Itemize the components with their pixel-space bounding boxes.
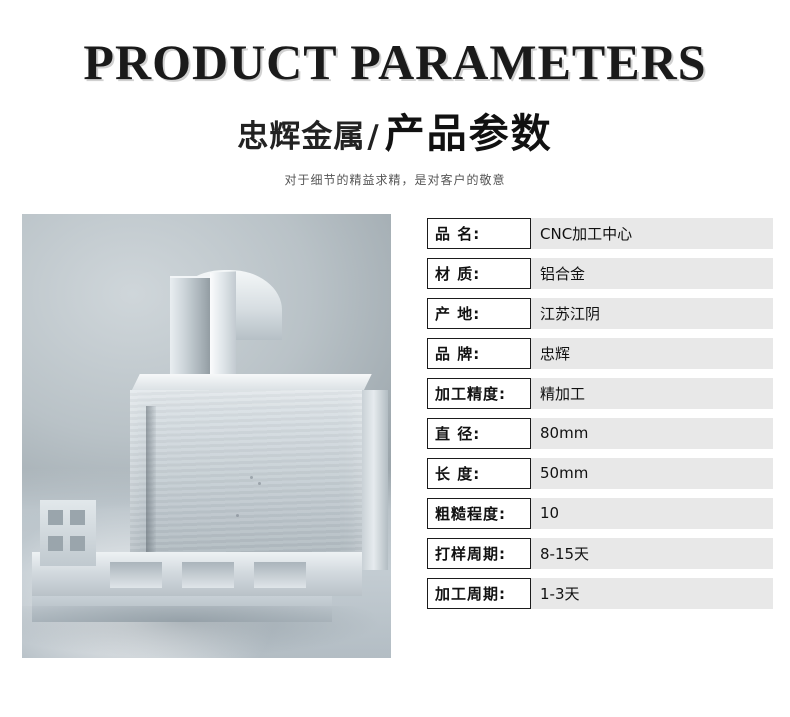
profile-slot-2 — [182, 562, 234, 588]
spec-label-text: 材 质: — [435, 263, 480, 284]
spec-value: 忠辉 — [531, 338, 773, 369]
subtitle-cn-row: 忠辉金属 / 产品参数 — [0, 101, 790, 159]
product-parameters-page: PRODUCT PARAMETERS 忠辉金属 / 产品参数 对于细节的精益求精… — [0, 0, 790, 717]
page-title-cn: 产品参数 — [385, 101, 553, 159]
spec-label: 长 度: — [427, 458, 531, 489]
title-separator: / — [365, 119, 380, 155]
product-photo — [22, 214, 391, 658]
spec-label: 直 径: — [427, 418, 531, 449]
spec-row: 产 地:江苏江阴 — [427, 298, 773, 329]
spec-row: 直 径:80mm — [427, 418, 773, 449]
spec-row: 打样周期:8-15天 — [427, 538, 773, 569]
spec-row: 加工周期:1-3天 — [427, 578, 773, 609]
page-subtitle: 对于细节的精益求精，是对客户的敬意 — [0, 171, 790, 188]
spec-label-text: 产 地: — [435, 303, 480, 324]
spec-label-text: 加工周期: — [435, 583, 506, 604]
spec-label-text: 直 径: — [435, 423, 480, 444]
profile-inner-gap — [146, 406, 156, 570]
brand-name-cn: 忠辉金属 — [237, 111, 365, 156]
spec-label: 品 名: — [427, 218, 531, 249]
specification-table: 品 名:CNC加工中心材 质:铝合金产 地:江苏江阴品 牌:忠辉加工精度:精加工… — [427, 218, 773, 618]
profile-slot-1 — [110, 562, 162, 588]
spec-value: 8-15天 — [531, 538, 773, 569]
spec-value: 1-3天 — [531, 578, 773, 609]
spec-value: 江苏江阴 — [531, 298, 773, 329]
photo-shadow — [22, 606, 382, 658]
spec-row: 粗糙程度:10 — [427, 498, 773, 529]
profile-right-face — [362, 390, 388, 570]
spec-row: 加工精度:精加工 — [427, 378, 773, 409]
spec-value: CNC加工中心 — [531, 218, 773, 249]
spec-row: 长 度:50mm — [427, 458, 773, 489]
spec-label: 产 地: — [427, 298, 531, 329]
content-area: 品 名:CNC加工中心材 质:铝合金产 地:江苏江阴品 牌:忠辉加工精度:精加工… — [0, 214, 790, 658]
spec-label-text: 加工精度: — [435, 383, 506, 404]
spec-row: 品 牌:忠辉 — [427, 338, 773, 369]
page-title: PRODUCT PARAMETERS — [0, 36, 790, 89]
spec-value: 80mm — [531, 418, 773, 449]
spec-label: 粗糙程度: — [427, 498, 531, 529]
spec-label-text: 品 牌: — [435, 343, 480, 364]
profile-front-plate — [130, 390, 362, 570]
surface-speck — [258, 482, 261, 485]
spec-label: 加工精度: — [427, 378, 531, 409]
spec-value: 铝合金 — [531, 258, 773, 289]
spec-value: 10 — [531, 498, 773, 529]
block-hole-1 — [48, 510, 63, 525]
profile-slot-3 — [254, 562, 306, 588]
block-hole-3 — [70, 510, 85, 525]
spec-label-text: 长 度: — [435, 463, 480, 484]
spec-row: 品 名:CNC加工中心 — [427, 218, 773, 249]
spec-label-text: 品 名: — [435, 223, 480, 244]
page-header: PRODUCT PARAMETERS 忠辉金属 / 产品参数 对于细节的精益求精… — [0, 0, 790, 188]
block-hole-2 — [48, 536, 63, 551]
spec-label: 材 质: — [427, 258, 531, 289]
spec-label: 加工周期: — [427, 578, 531, 609]
surface-speck — [250, 476, 253, 479]
block-hole-4 — [70, 536, 85, 551]
spec-row: 材 质:铝合金 — [427, 258, 773, 289]
spec-label: 打样周期: — [427, 538, 531, 569]
spec-label: 品 牌: — [427, 338, 531, 369]
profile-small-block — [40, 500, 96, 566]
spec-value: 精加工 — [531, 378, 773, 409]
spec-label-text: 打样周期: — [435, 543, 506, 564]
spec-value: 50mm — [531, 458, 773, 489]
surface-speck — [236, 514, 239, 517]
spec-label-text: 粗糙程度: — [435, 503, 506, 524]
